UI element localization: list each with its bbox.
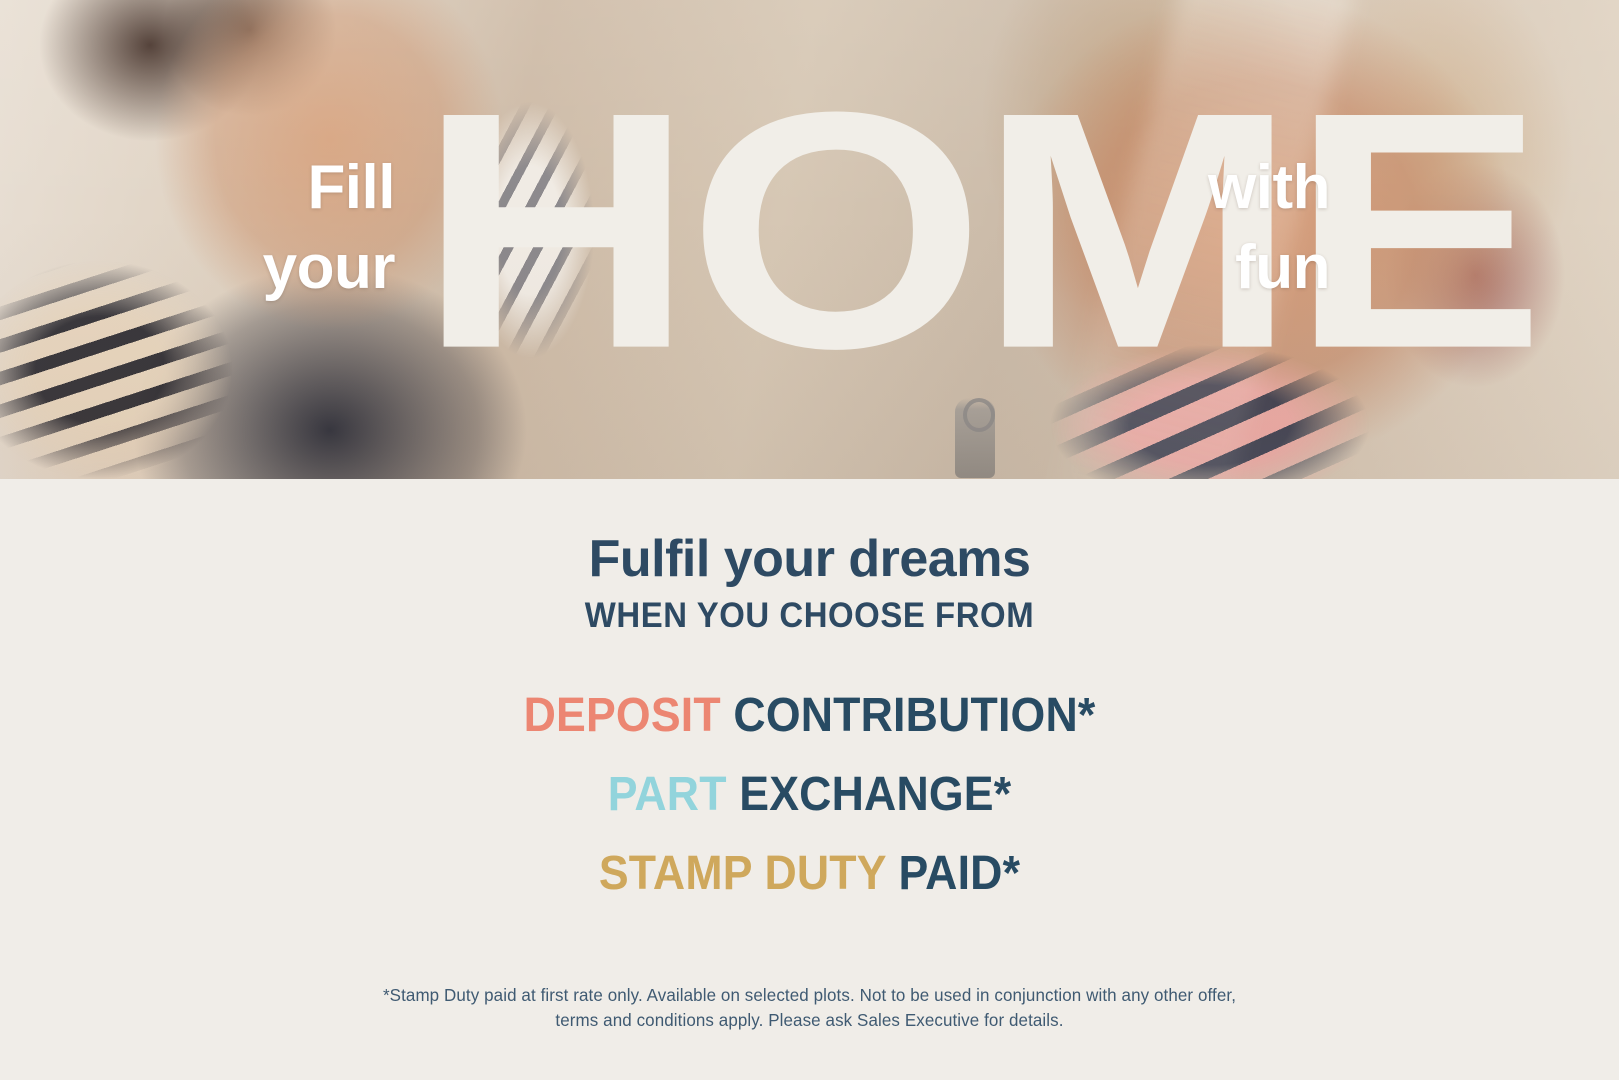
offers-section: Fulfil your dreams WHEN YOU CHOOSE FROM …: [0, 479, 1619, 1080]
offer-rest-paid: PAID*: [886, 847, 1020, 900]
offer-accent-stamp-duty: STAMP DUTY: [599, 847, 886, 900]
disclaimer-text: *Stamp Duty paid at first rate only. Ava…: [24, 913, 1594, 1033]
offer-accent-deposit: DEPOSIT: [524, 689, 721, 742]
hero-banner: HOME Fill your with fun: [0, 0, 1619, 479]
offers-list: DEPOSIT CONTRIBUTION* PART EXCHANGE* STA…: [0, 676, 1619, 913]
page-subtitle: WHEN YOU CHOOSE FROM: [49, 588, 1571, 636]
offer-accent-part: PART: [608, 768, 727, 821]
offer-item-deposit-contribution: DEPOSIT CONTRIBUTION*: [57, 676, 1563, 755]
offer-rest-exchange: EXCHANGE*: [727, 768, 1012, 821]
page-title: Fulfil your dreams: [0, 479, 1619, 588]
offer-item-part-exchange: PART EXCHANGE*: [57, 755, 1563, 834]
promo-page: HOME Fill your with fun Fulfil your drea…: [0, 0, 1619, 1080]
hero-caption-left: Fill your: [150, 148, 395, 308]
hero-caption-right: with fun: [1080, 148, 1330, 308]
offer-rest-contribution: CONTRIBUTION*: [721, 689, 1096, 742]
offer-item-stamp-duty-paid: STAMP DUTY PAID*: [57, 834, 1563, 913]
